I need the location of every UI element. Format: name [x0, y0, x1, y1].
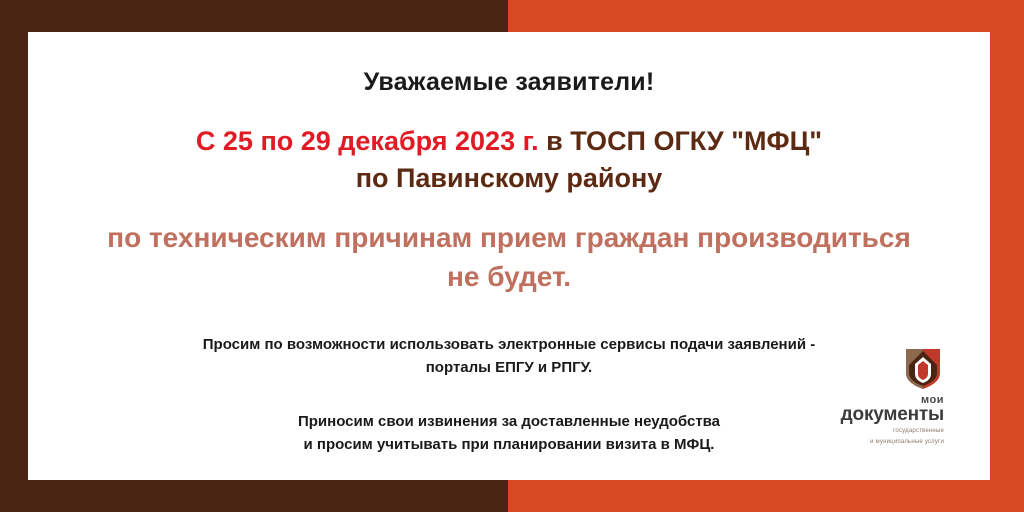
- card-spacer: [54, 456, 964, 462]
- mfc-shield-icon: [906, 349, 940, 389]
- page-title: Уважаемые заявители!: [54, 68, 964, 97]
- announcement-poster: Уважаемые заявители! С 25 по 29 декабря …: [0, 0, 1024, 512]
- mfc-logo: мои документы государственные и муниципа…: [826, 349, 944, 446]
- logo-tagline-line-1: государственные: [826, 427, 944, 435]
- closure-date-range: С 25 по 29 декабря 2023 г.: [196, 126, 539, 156]
- subject-line-2: по Павинскому району: [54, 160, 964, 197]
- notice-line-2: не будет.: [54, 257, 964, 297]
- announcement-card: Уважаемые заявители! С 25 по 29 декабря …: [28, 32, 990, 480]
- notice-line-1: по техническим причинам прием граждан пр…: [54, 218, 964, 258]
- logo-word-dokumenty: документы: [826, 405, 944, 424]
- organization-name: в ТОСП ОГКУ "МФЦ": [539, 126, 822, 156]
- subject-block: С 25 по 29 декабря 2023 г. в ТОСП ОГКУ "…: [54, 123, 964, 198]
- logo-tagline-line-2: и муниципальные услуги: [826, 438, 944, 446]
- notice-block: по техническим причинам прием граждан пр…: [54, 218, 964, 298]
- subject-line-1: С 25 по 29 декабря 2023 г. в ТОСП ОГКУ "…: [54, 123, 964, 160]
